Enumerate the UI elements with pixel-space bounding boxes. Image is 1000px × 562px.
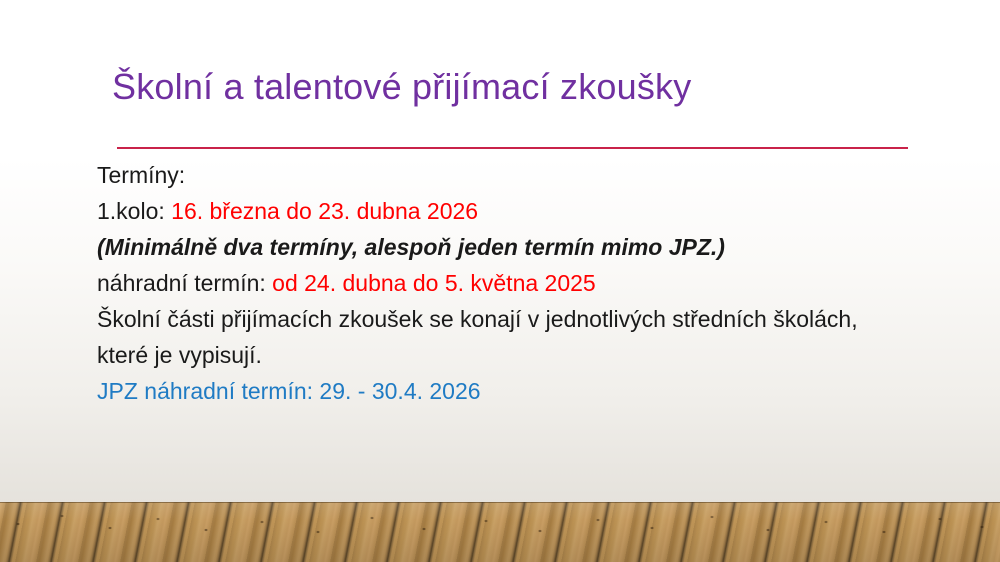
value-substitute-term-dates: od 24. dubna do 5. května 2025	[272, 270, 596, 296]
title-divider-rule	[117, 147, 908, 149]
body-line-terminy: Termíny:	[97, 157, 907, 193]
floor-top-edge	[0, 502, 1000, 503]
body-line-substitute-term: náhradní termín: od 24. dubna do 5. květ…	[97, 265, 907, 301]
label-terminy: Termíny:	[97, 162, 185, 188]
body-line-first-round: 1.kolo: 16. března do 23. dubna 2026	[97, 193, 907, 229]
label-substitute-term: náhradní termín:	[97, 270, 272, 296]
value-first-round-dates: 16. března do 23. dubna 2026	[171, 198, 478, 224]
label-first-round: 1.kolo:	[97, 198, 171, 224]
wooden-floor-decoration	[0, 502, 1000, 562]
body-paragraph-school-parts: Školní části přijímacích zkoušek se kona…	[97, 301, 907, 373]
page-title: Školní a talentové přijímací zkoušky	[112, 64, 932, 110]
text-school-parts: Školní části přijímacích zkoušek se kona…	[97, 306, 858, 368]
slide-canvas: Školní a talentové přijímací zkoušky Ter…	[0, 0, 1000, 562]
note-minimum-terms: (Minimálně dva termíny, alespoň jeden te…	[97, 234, 725, 260]
floor-planks	[0, 502, 1000, 562]
body-line-jpz-substitute: JPZ náhradní termín: 29. - 30.4. 2026	[97, 373, 907, 409]
text-jpz-substitute-term: JPZ náhradní termín: 29. - 30.4. 2026	[97, 378, 481, 404]
body-text-block: Termíny: 1.kolo: 16. března do 23. dubna…	[97, 157, 907, 409]
body-line-note: (Minimálně dva termíny, alespoň jeden te…	[97, 229, 907, 265]
